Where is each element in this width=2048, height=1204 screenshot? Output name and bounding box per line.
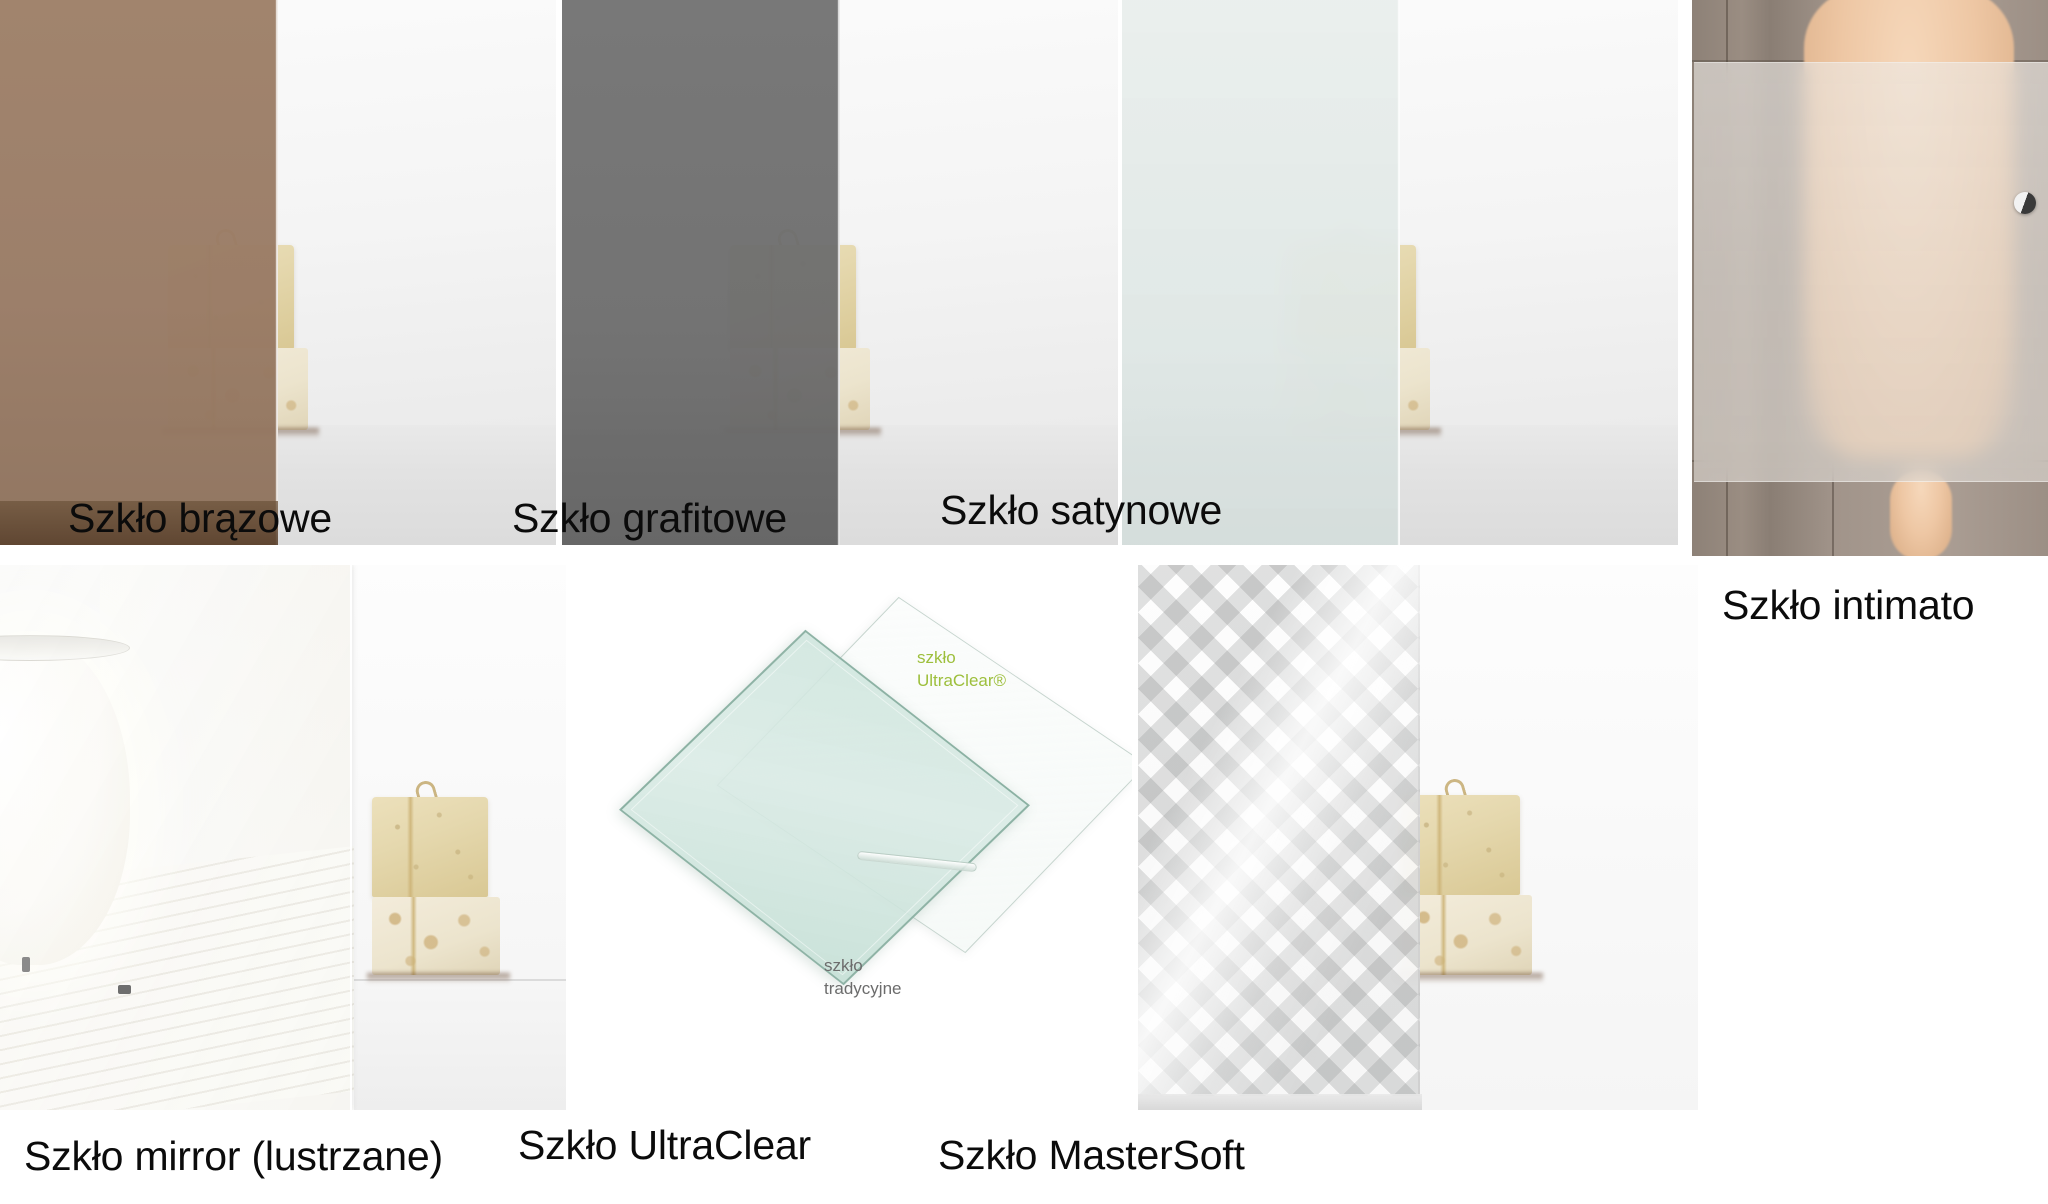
soap-bar-bottom xyxy=(372,897,500,975)
tile-szklo-ultraclear[interactable]: szkło UltraClear® szkło tradycyjne xyxy=(572,565,1132,1110)
caption-szklo-grafitowe: Szkło grafitowe xyxy=(512,498,787,539)
soap-scene xyxy=(1122,0,1678,545)
glass-pane-edge xyxy=(1397,0,1400,545)
silhouette-leg xyxy=(1890,470,1952,556)
tile-image-szklo-grafitowe xyxy=(562,0,1118,545)
tile-image-szklo-brazowe xyxy=(0,0,556,545)
annotation-traditional-line1: szkło xyxy=(824,955,901,978)
caption-szklo-intimato: Szkło intimato xyxy=(1722,585,1974,626)
shower-door-knob-icon[interactable] xyxy=(2014,192,2036,214)
tile-image-szklo-satynowe xyxy=(1122,0,1678,545)
tile-image-szklo-intimato xyxy=(1692,0,2048,556)
glass-pane-mirror xyxy=(0,565,352,1110)
caption-szklo-brazowe: Szkło brązowe xyxy=(68,498,332,539)
glass-pane-base xyxy=(1138,1094,1422,1110)
soap-bars xyxy=(372,797,500,975)
glass-pane-edge xyxy=(837,0,840,545)
glass-pane-graphite xyxy=(562,0,840,545)
raffia-string xyxy=(410,897,417,975)
tile-szklo-mastersoft[interactable] xyxy=(1138,565,1698,1110)
caption-szklo-mirror: Szkło mirror (lustrzane) xyxy=(24,1136,443,1177)
soap-scene xyxy=(562,0,1118,545)
tile-image-szklo-mastersoft xyxy=(1138,565,1698,1110)
tile-szklo-grafitowe[interactable] xyxy=(562,0,1118,545)
raffia-string xyxy=(407,797,414,897)
annotation-traditional: szkło tradycyjne xyxy=(824,955,901,1001)
caption-szklo-mastersoft: Szkło MasterSoft xyxy=(938,1135,1245,1176)
tile-szklo-intimato[interactable] xyxy=(1692,0,2048,556)
tile-image-szklo-mirror xyxy=(0,565,566,1110)
tile-szklo-brazowe[interactable] xyxy=(0,0,556,545)
caption-szklo-satynowe: Szkło satynowe xyxy=(940,490,1222,531)
soap-scene xyxy=(0,0,556,545)
caption-szklo-ultraclear: Szkło UltraClear xyxy=(518,1125,811,1166)
annotation-ultraclear-line2: UltraClear® xyxy=(917,670,1006,693)
floor-clip-icon xyxy=(22,957,30,972)
glass-types-gallery: Szkło brązowe xyxy=(0,0,2048,1204)
annotation-traditional-line2: tradycyjne xyxy=(824,978,901,1001)
floor-clip-icon xyxy=(118,985,131,994)
annotation-ultraclear: szkło UltraClear® xyxy=(917,647,1006,693)
glass-pane-intimato xyxy=(1694,62,2048,482)
glass-pane-satin xyxy=(1122,0,1400,545)
raffia-string xyxy=(1436,795,1443,895)
glass-pane-gloss xyxy=(1138,565,1420,1096)
tile-image-szklo-ultraclear: szkło UltraClear® szkło tradycyjne xyxy=(572,565,1132,1110)
glass-pane-edge xyxy=(275,0,278,545)
glass-pane-brown xyxy=(0,0,278,545)
tile-szklo-satynowe[interactable] xyxy=(1122,0,1678,545)
soap-bar-top xyxy=(372,797,488,897)
raffia-string xyxy=(1440,895,1447,975)
tile-szklo-mirror[interactable] xyxy=(0,565,566,1110)
soap-shadow xyxy=(367,973,510,983)
annotation-ultraclear-line1: szkło xyxy=(917,647,1006,670)
